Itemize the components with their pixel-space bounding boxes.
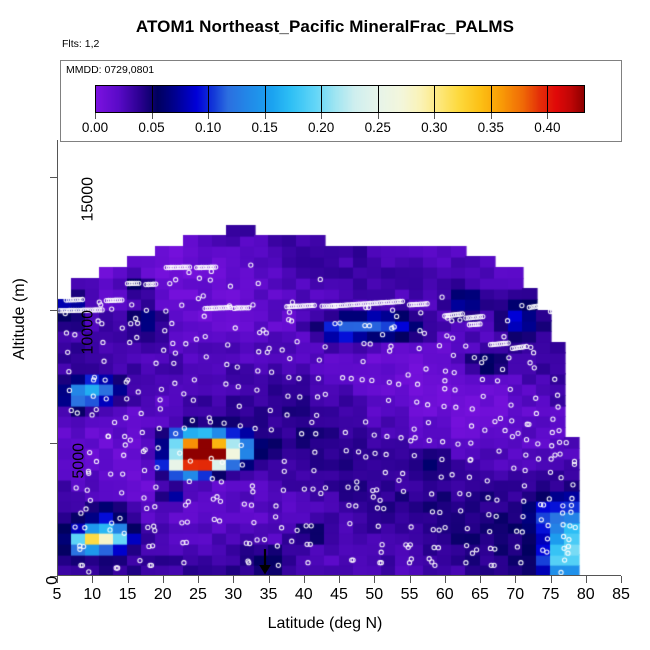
x-tick-85 (621, 576, 622, 583)
plot-area (57, 140, 621, 576)
x-tick-label-20: 20 (154, 586, 172, 604)
colorbar-tick-label-5: 0.25 (365, 120, 391, 135)
colorbar-gradient (95, 85, 585, 113)
colorbar-divider-1 (208, 85, 209, 113)
x-tick-label-60: 60 (436, 586, 454, 604)
colorbar-tick-0 (95, 113, 96, 119)
colorbar-tick-label-1: 0.05 (138, 120, 164, 135)
x-tick-30 (233, 576, 234, 583)
colorbar-tick-label-0: 0.00 (82, 120, 108, 135)
colorbar-tick-6 (434, 113, 435, 119)
x-tick-65 (480, 576, 481, 583)
colorbar-divider-5 (434, 85, 435, 113)
x-tick-label-35: 35 (260, 586, 278, 604)
x-tick-40 (304, 576, 305, 583)
colorbar-tick-1 (152, 113, 153, 119)
colorbar-tick-label-3: 0.15 (251, 120, 277, 135)
y-tick-label-0: 0 (44, 576, 62, 585)
colorbar-divider-6 (491, 85, 492, 113)
x-tick-50 (374, 576, 375, 583)
y-tick-label-10000: 10000 (80, 310, 98, 355)
x-tick-label-10: 10 (83, 586, 101, 604)
colorbar-divider-7 (547, 85, 548, 113)
colorbar-tick-2 (208, 113, 209, 119)
x-tick-label-75: 75 (542, 586, 560, 604)
chart-root: ATOM1 Northeast_Pacific MineralFrac_PALM… (0, 0, 650, 650)
colorbar-divider-3 (321, 85, 322, 113)
x-tick-label-25: 25 (189, 586, 207, 604)
colorbar-tick-4 (321, 113, 322, 119)
x-axis-title: Latitude (deg N) (0, 615, 650, 633)
flights-annotation: Flts: 1,2 (62, 38, 99, 50)
colorbar-tick-7 (491, 113, 492, 119)
x-tick-35 (269, 576, 270, 583)
colorbar-tick-3 (265, 113, 266, 119)
y-tick-5000 (50, 443, 57, 444)
x-tick-label-70: 70 (506, 586, 524, 604)
colorbar-divider-0 (152, 85, 153, 113)
heatmap-data-layer (57, 140, 621, 576)
y-tick-label-15000: 15000 (80, 177, 98, 222)
colorbar-tick-5 (378, 113, 379, 119)
x-tick-label-80: 80 (577, 586, 595, 604)
x-tick-label-40: 40 (295, 586, 313, 604)
x-tick-label-45: 45 (330, 586, 348, 604)
x-tick-label-50: 50 (365, 586, 383, 604)
x-tick-60 (445, 576, 446, 583)
x-tick-label-15: 15 (119, 586, 137, 604)
colorbar-tick-label-6: 0.30 (421, 120, 447, 135)
x-tick-label-5: 5 (53, 586, 62, 604)
colorbar-tick-label-7: 0.35 (478, 120, 504, 135)
x-tick-25 (198, 576, 199, 583)
colorbar-divider-2 (265, 85, 266, 113)
x-tick-label-85: 85 (612, 586, 630, 604)
x-tick-75 (551, 576, 552, 583)
x-tick-15 (128, 576, 129, 583)
y-axis-title: Altitude (m) (11, 199, 29, 439)
mmdd-annotation: MMDD: 0729,0801 (66, 64, 154, 76)
y-tick-15000 (50, 177, 57, 178)
x-tick-80 (586, 576, 587, 583)
page-title: ATOM1 Northeast_Pacific MineralFrac_PALM… (0, 17, 650, 37)
x-tick-70 (515, 576, 516, 583)
x-tick-label-30: 30 (224, 586, 242, 604)
colorbar-tick-label-2: 0.10 (195, 120, 221, 135)
x-tick-45 (339, 576, 340, 583)
colorbar: 0.000.050.100.150.200.250.300.350.40 (95, 85, 585, 113)
colorbar-divider-4 (378, 85, 379, 113)
x-tick-20 (163, 576, 164, 583)
colorbar-tick-label-8: 0.40 (534, 120, 560, 135)
x-tick-10 (92, 576, 93, 583)
y-tick-10000 (50, 310, 57, 311)
y-axis-line (57, 140, 58, 576)
x-tick-label-65: 65 (471, 586, 489, 604)
colorbar-tick-label-4: 0.20 (308, 120, 334, 135)
x-tick-label-55: 55 (401, 586, 419, 604)
x-tick-55 (410, 576, 411, 583)
latitude-arrow-marker (258, 549, 272, 575)
colorbar-legend-panel: MMDD: 0729,0801 0.000.050.100.150.200.25… (60, 60, 622, 142)
colorbar-tick-8 (547, 113, 548, 119)
y-tick-label-5000: 5000 (71, 443, 89, 479)
